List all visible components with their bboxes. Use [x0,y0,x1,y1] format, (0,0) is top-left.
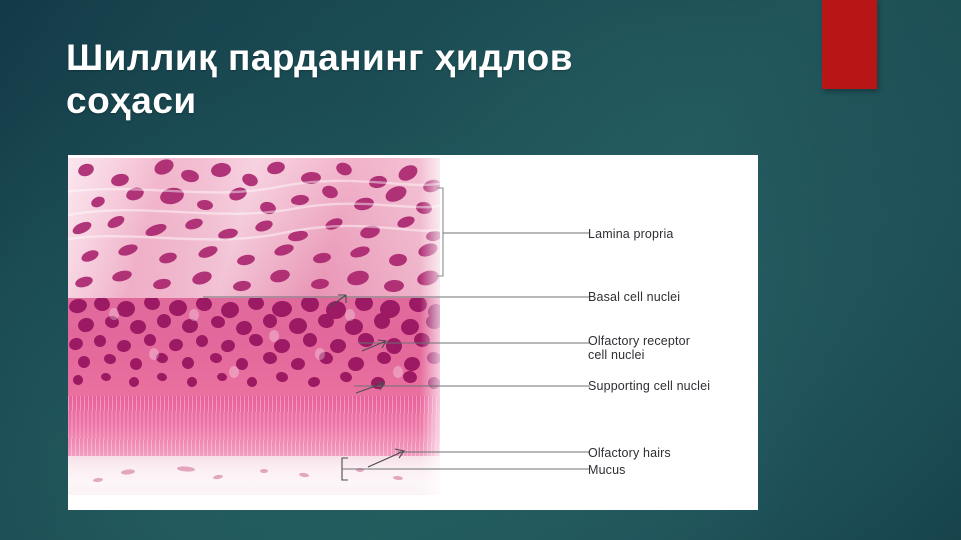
callout-label-mucus: Mucus [588,463,626,477]
callout-label-basal-cell-nuclei: Basal cell nuclei [588,290,680,304]
callout-label-olfactory-hairs: Olfactory hairs [588,446,671,460]
slide-canvas: Шиллиқ парданинг ҳидлов соҳаси [0,0,961,540]
callout-label-supporting-cell-nuclei: Supporting cell nuclei [588,379,710,393]
callout-label-olfactory-receptor-cell-nuclei: Olfactory receptor cell nuclei [588,334,690,362]
figure-callout-labels: Lamina propria Basal cell nuclei Olfacto… [0,0,961,540]
callout-label-lamina-propria: Lamina propria [588,227,673,241]
